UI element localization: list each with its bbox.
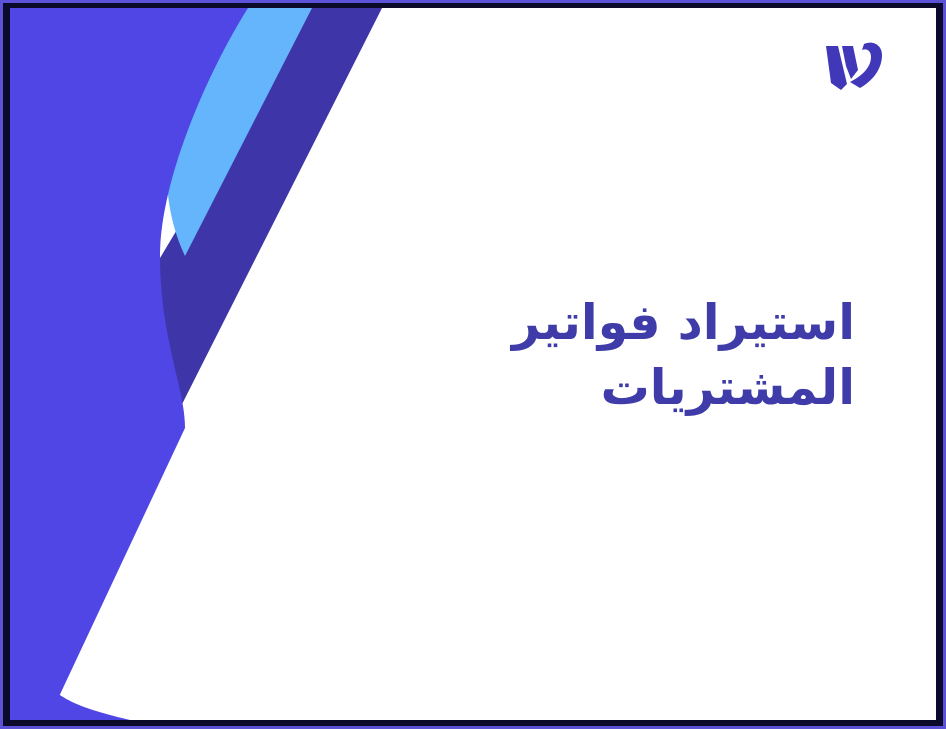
wafeq-w-logo-icon bbox=[826, 43, 882, 90]
slide-title: استيراد فواتير المشتريات bbox=[425, 291, 855, 420]
title-line-2: المشتريات bbox=[425, 356, 855, 421]
slide-root: استيراد فواتير المشتريات bbox=[0, 0, 946, 729]
brand-logo bbox=[820, 38, 888, 96]
slide-canvas: استيراد فواتير المشتريات bbox=[10, 8, 936, 720]
title-line-1: استيراد فواتير bbox=[425, 291, 855, 356]
